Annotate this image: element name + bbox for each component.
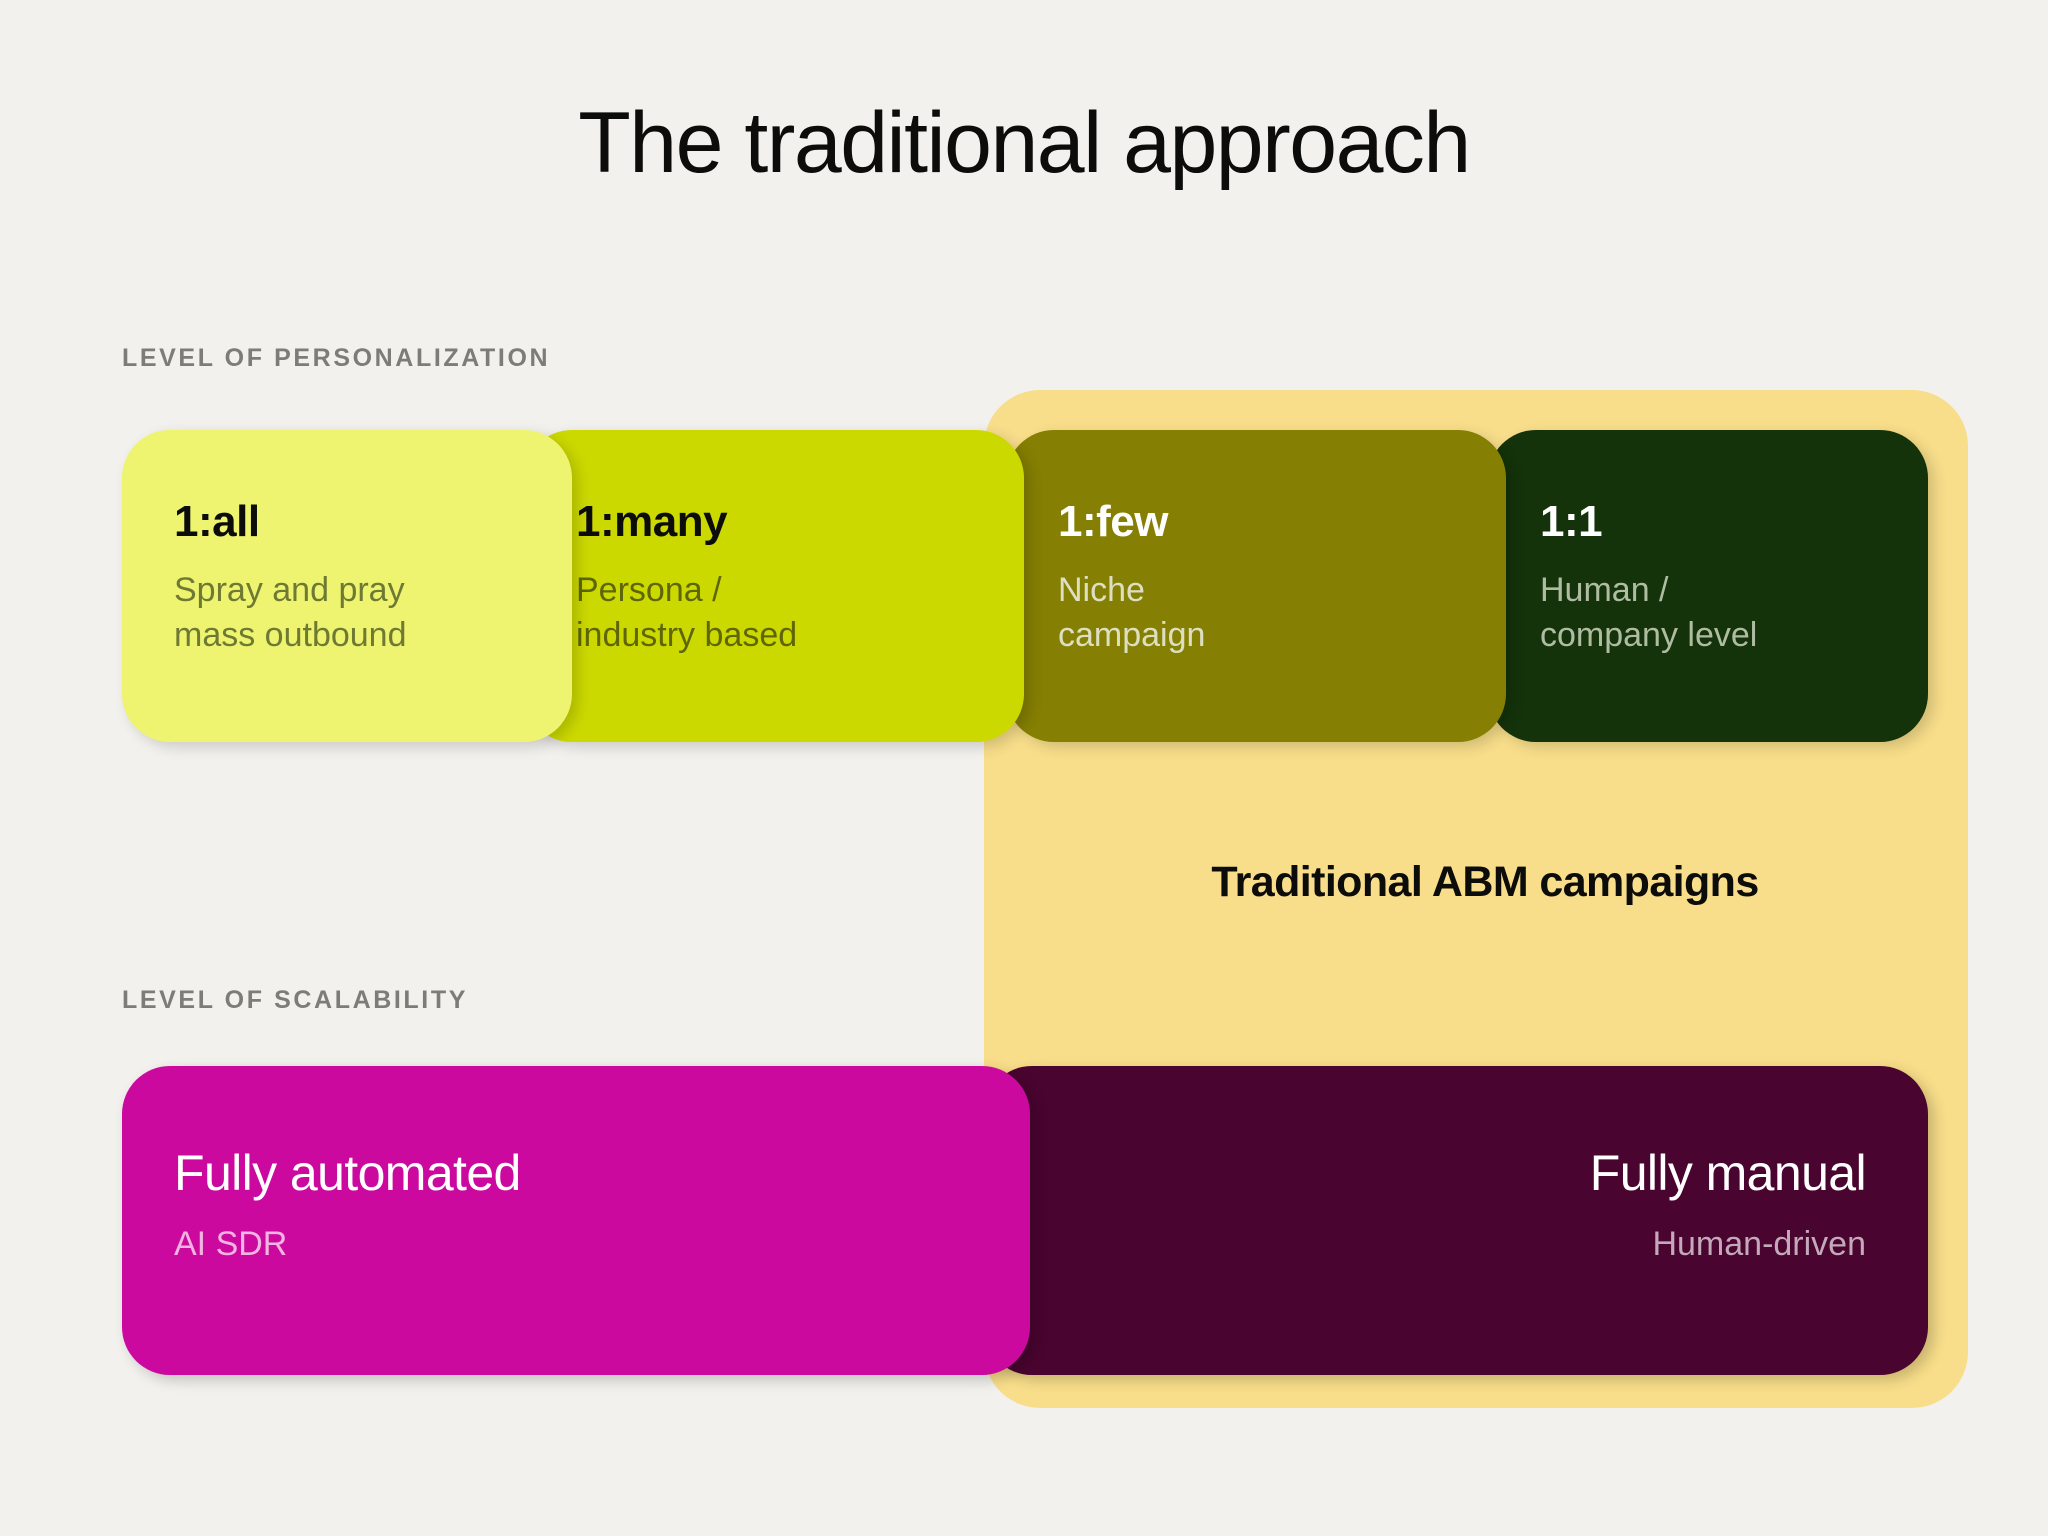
personalization-card-1few[interactable]: 1:few Niche campaign [1006, 430, 1506, 742]
scalability-card-fully-manual[interactable]: Fully manual Human-driven [984, 1066, 1928, 1375]
card-title: Fully manual [984, 1148, 1866, 1198]
card-description: AI SDR [174, 1224, 1030, 1265]
card-description: Human / company level [1540, 568, 1928, 658]
card-title: 1:all [174, 500, 572, 544]
card-title: 1:1 [1540, 500, 1928, 544]
card-description: Persona / industry based [576, 568, 1024, 658]
personalization-card-1many[interactable]: 1:many Persona / industry based [524, 430, 1024, 742]
card-title: 1:few [1058, 500, 1506, 544]
scalability-card-fully-automated[interactable]: Fully automated AI SDR [122, 1066, 1030, 1375]
scalability-section-caption: LEVEL OF SCALABILITY [122, 986, 468, 1015]
personalization-card-1all[interactable]: 1:all Spray and pray mass outbound [122, 430, 572, 742]
diagram-canvas: The traditional approach LEVEL OF PERSON… [0, 0, 2048, 1536]
card-description: Spray and pray mass outbound [174, 568, 572, 658]
page-title: The traditional approach [0, 98, 2048, 188]
card-title: 1:many [576, 500, 1024, 544]
card-description: Human-driven [984, 1224, 1866, 1265]
personalization-section-caption: LEVEL OF PERSONALIZATION [122, 344, 550, 373]
card-description: Niche campaign [1058, 568, 1506, 658]
card-title: Fully automated [174, 1148, 1030, 1198]
traditional-abm-campaigns-label: Traditional ABM campaigns [1155, 858, 1815, 907]
personalization-card-1to1[interactable]: 1:1 Human / company level [1488, 430, 1928, 742]
